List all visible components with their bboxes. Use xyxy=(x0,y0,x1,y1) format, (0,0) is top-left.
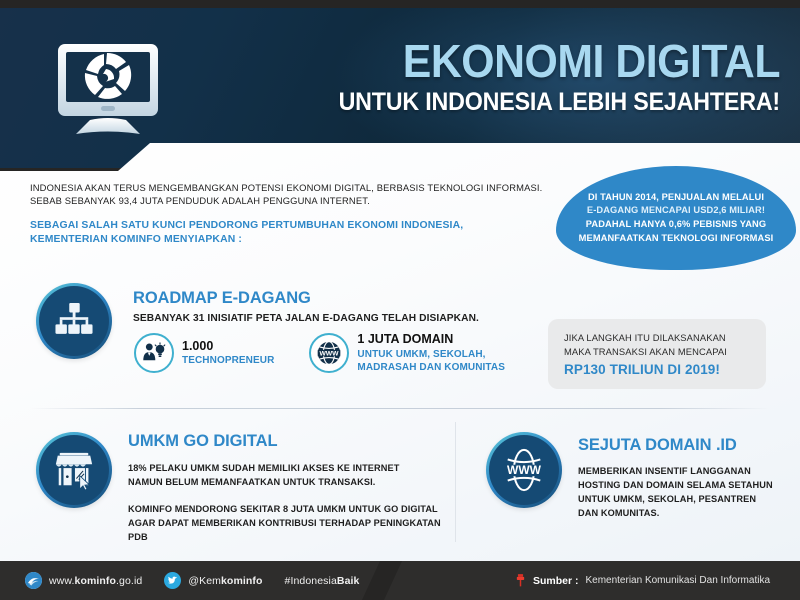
twitter-bird-icon xyxy=(164,572,181,589)
stat-technopreneur: 1.000 TECHNOPRENEUR xyxy=(134,332,274,374)
section-subtitle-roadmap: SEBANYAK 31 INISIATIF PETA JALAN E-DAGAN… xyxy=(133,312,503,326)
section-title-roadmap: ROADMAP E-DAGANG xyxy=(133,289,503,307)
footer-twitter-text: @Kemkominfo xyxy=(188,575,262,587)
umkm-para2-line1: KOMINFO MENDORONG SEKITAR 8 JUTA UMKM UN… xyxy=(128,503,448,517)
monitor-globe-icon xyxy=(48,36,168,146)
intro-headline-1: SEBAGAI SALAH SATU KUNCI PENDORONG PERTU… xyxy=(30,219,550,234)
domain-para-line2: HOSTING DAN DOMAIN SELAMA SETAHUN xyxy=(578,479,800,493)
umkm-para1-line2: NAMUN BELUM MEMANFAATKAN UNTUK TRANSAKSI… xyxy=(128,476,448,490)
stat-label-domain-line2: MADRASAH DAN KOMUNITAS xyxy=(357,361,505,374)
section-umkm-icon-wrap xyxy=(36,432,112,508)
section-title-domain: SEJUTA DOMAIN .ID xyxy=(578,436,800,454)
technopreneur-lightbulb-icon xyxy=(134,333,174,373)
stat-number-technopreneur: 1.000 xyxy=(182,339,274,355)
page-title: EKONOMI DIGITAL xyxy=(245,38,780,85)
footer-hashtag[interactable]: #IndonesiaBaik xyxy=(285,575,360,587)
intro-line-1: INDONESIA AKAN TERUS MENGEMBANGKAN POTEN… xyxy=(30,181,550,194)
footer-bar: www.kominfo.go.id @Kemkominfo #Indonesia… xyxy=(0,561,800,600)
intro-line-2: SEBAB SEBANYAK 93,4 JUTA PENDUDUK ADALAH… xyxy=(30,194,550,207)
callout-line-2: E-DAGANG MENCAPAI USD2,6 MILIAR! xyxy=(579,204,774,218)
infographic-page: EKONOMI DIGITAL UNTUK INDONESIA LEBIH SE… xyxy=(0,0,800,600)
domain-para-line3: UNTUK UMKM, SEKOLAH, PESANTREN xyxy=(578,493,800,507)
section-domain-text: SEJUTA DOMAIN .ID MEMBERIKAN INSENTIF LA… xyxy=(578,436,800,521)
domain-para-line4: DAN KOMUNITAS. xyxy=(578,507,800,521)
domain-para-line1: MEMBERIKAN INSENTIF LANGGANAN xyxy=(578,465,800,479)
title-block: EKONOMI DIGITAL UNTUK INDONESIA LEBIH SE… xyxy=(205,38,780,116)
gray-box-line-1: JIKA LANGKAH ITU DILAKSANAKAN xyxy=(564,331,750,345)
stat-domain: WWW 1 JUTA DOMAIN UNTUK UMKM, SEKOLAH, M… xyxy=(309,332,505,374)
umkm-para1-line1: 18% PELAKU UMKM SUDAH MEMILIKI AKSES KE … xyxy=(128,462,448,476)
intro-headline-2: KEMENTERIAN KOMINFO MENYIAPKAN : xyxy=(30,233,550,248)
section-umkm-text: UMKM GO DIGITAL 18% PELAKU UMKM SUDAH ME… xyxy=(128,432,448,545)
svg-text:WWW: WWW xyxy=(507,463,542,477)
footer-source-label: Sumber : xyxy=(533,575,579,587)
callout-line-4: MEMANFAATKAN TEKNOLOGI INFORMASI xyxy=(579,232,774,246)
storefront-cursor-icon xyxy=(36,432,112,508)
section-roadmap-icon-wrap xyxy=(36,283,112,359)
sitemap-hierarchy-icon xyxy=(36,283,112,359)
gray-box-line-2: MAKA TRANSAKSI AKAN MENCAPAI xyxy=(564,345,750,359)
svg-text:WWW: WWW xyxy=(320,350,340,357)
www-globe-icon-large: WWW xyxy=(486,432,562,508)
pin-icon xyxy=(515,573,526,588)
footer-twitter[interactable]: @Kemkominfo xyxy=(164,572,262,589)
footer-hashtag-text: #IndonesiaBaik xyxy=(285,575,360,587)
section-roadmap-text: ROADMAP E-DAGANG SEBANYAK 31 INISIATIF P… xyxy=(133,289,503,326)
page-subtitle: UNTUK INDONESIA LEBIH SEJAHTERA! xyxy=(245,89,780,117)
kominfo-logo-icon xyxy=(25,572,42,589)
section-title-umkm: UMKM GO DIGITAL xyxy=(128,432,448,450)
gray-box-highlight: RP130 TRILIUN DI 2019! xyxy=(564,362,750,377)
stat-number-domain: 1 JUTA DOMAIN xyxy=(357,332,505,348)
horizontal-divider xyxy=(30,408,770,409)
intro-text-block: INDONESIA AKAN TERUS MENGEMBANGKAN POTEN… xyxy=(30,181,550,248)
www-globe-icon: WWW xyxy=(309,333,349,373)
gray-projection-box: JIKA LANGKAH ITU DILAKSANAKAN MAKA TRANS… xyxy=(548,319,766,389)
footer-website-text: www.kominfo.go.id xyxy=(49,575,142,587)
vertical-divider xyxy=(455,422,456,542)
stat-label-technopreneur: TECHNOPRENEUR xyxy=(182,354,274,367)
umkm-para2-line2: AGAR DAPAT MEMBERIKAN KONTRIBUSI TERHADA… xyxy=(128,517,448,545)
footer-website[interactable]: www.kominfo.go.id xyxy=(25,572,142,589)
callout-line-3: PADAHAL HANYA 0,6% PEBISNIS YANG xyxy=(579,218,774,232)
footer-left-group: www.kominfo.go.id @Kemkominfo #Indonesia… xyxy=(0,561,380,600)
footer-right-group: Sumber : Kementerian Komunikasi Dan Info… xyxy=(380,561,800,600)
stat-label-domain-line1: UNTUK UMKM, SEKOLAH, xyxy=(357,348,505,361)
section-domain-icon-wrap: WWW xyxy=(486,432,562,508)
callout-line-1: DI TAHUN 2014, PENJUALAN MELALUI xyxy=(579,191,774,205)
footer-source-value: Kementerian Komunikasi Dan Informatika xyxy=(585,575,770,586)
roadmap-stats-row: 1.000 TECHNOPRENEUR WWW xyxy=(134,332,505,374)
